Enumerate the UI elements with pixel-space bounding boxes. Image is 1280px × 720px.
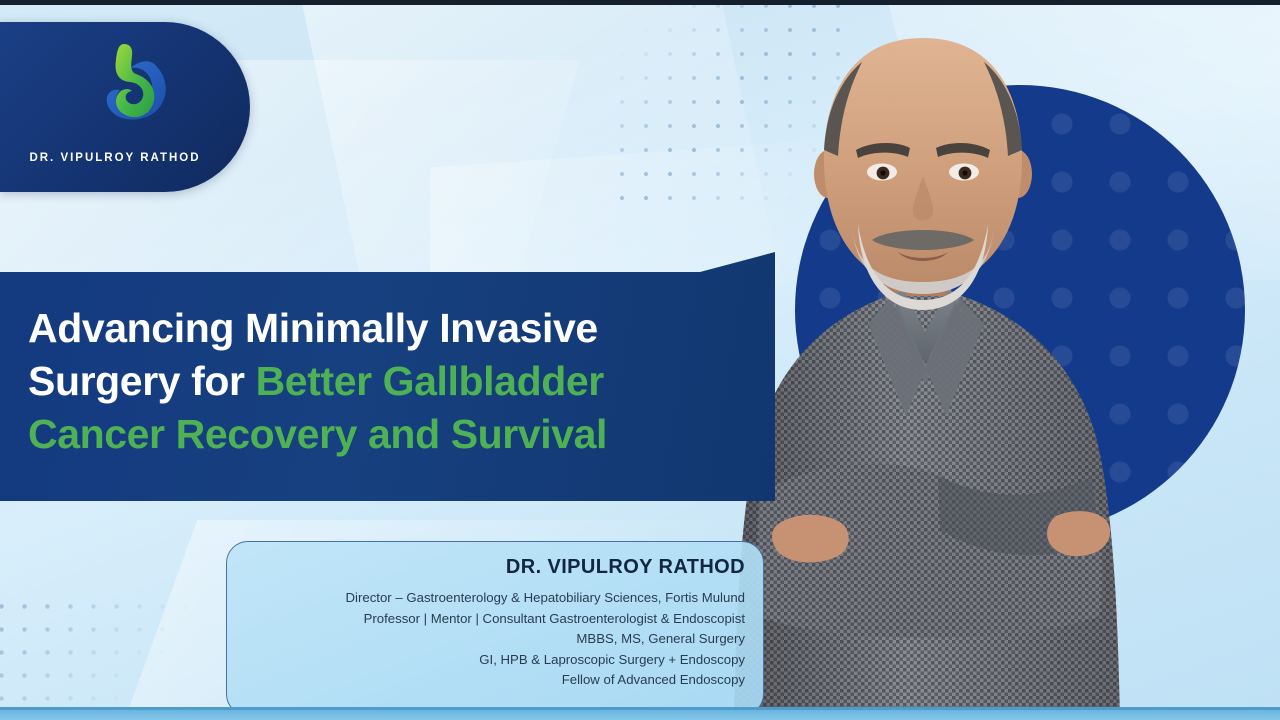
doctor-portrait xyxy=(700,24,1260,720)
title-banner: Advancing Minimally Invasive Surgery for… xyxy=(0,252,775,501)
credential-line: Fellow of Advanced Endoscopy xyxy=(245,670,745,691)
stomach-gi-icon xyxy=(86,38,178,134)
title-line-2-white: Surgery for xyxy=(28,358,256,404)
credential-line: Professor | Mentor | Consultant Gastroen… xyxy=(245,609,745,630)
credential-line: GI, HPB & Laproscopic Surgery + Endoscop… xyxy=(245,650,745,671)
credential-line: MBBS, MS, General Surgery xyxy=(245,629,745,650)
page-title: Advancing Minimally Invasive Surgery for… xyxy=(28,302,728,461)
credentials-card: DR. VIPULROY RATHOD Director – Gastroent… xyxy=(226,541,764,716)
title-line-3-green: Cancer Recovery and Survival xyxy=(28,411,607,457)
presentation-slide: DR. VIPULROY RATHOD Advancing Minimally … xyxy=(0,0,1280,720)
title-line-2-green: Better Gallbladder xyxy=(256,358,604,404)
credential-line: Director – Gastroenterology & Hepatobili… xyxy=(245,588,745,609)
letterbox-bar-bottom xyxy=(0,710,1280,720)
halftone-dots-bottom-left xyxy=(0,595,205,720)
doctor-name: DR. VIPULROY RATHOD xyxy=(245,556,745,579)
logo-badge[interactable]: DR. VIPULROY RATHOD xyxy=(0,22,250,192)
title-line-1: Advancing Minimally Invasive xyxy=(28,305,598,351)
logo-wordmark: DR. VIPULROY RATHOD xyxy=(0,152,230,164)
letterbox-bar-top xyxy=(0,0,1280,5)
